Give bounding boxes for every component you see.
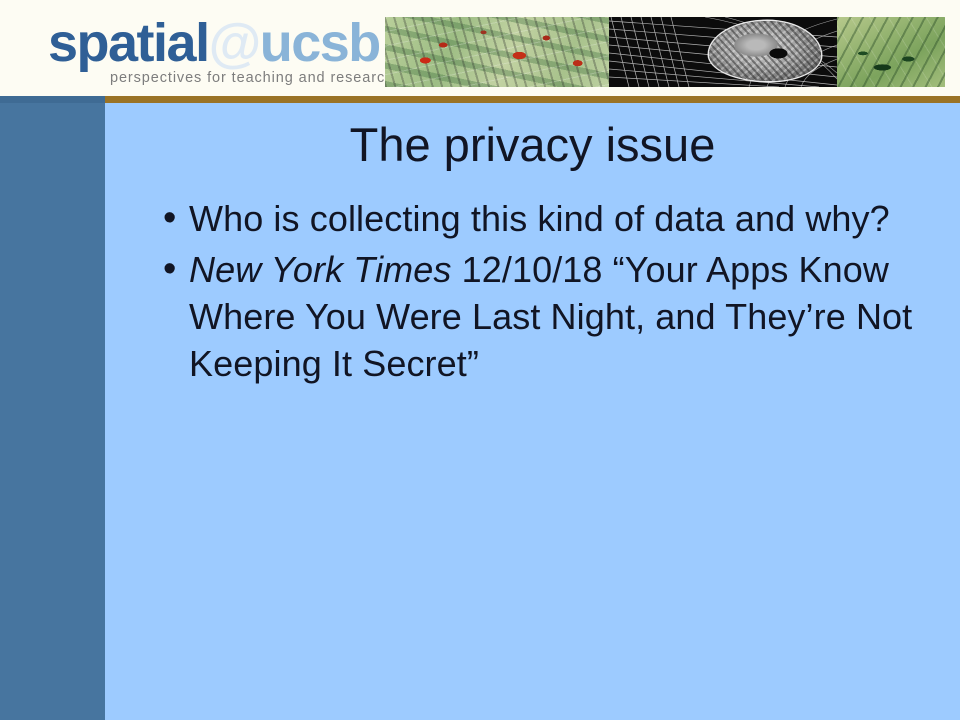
bullet-text: Who is collecting this kind of data and … [189, 195, 955, 242]
green-terrain-image [837, 17, 945, 87]
header-gold-divider [105, 96, 960, 103]
header-banner-images [385, 17, 945, 87]
slide-content: The privacy issue • Who is collecting th… [105, 103, 960, 720]
presentation-slide: spatial@ucsb perspectives for teaching a… [0, 0, 960, 720]
brain-mri-spiderweb-image [609, 17, 837, 87]
bullet-list: • Who is collecting this kind of data an… [155, 195, 955, 391]
bullet-segment-source: New York Times [189, 249, 452, 290]
logo-text-at: @ [209, 13, 260, 73]
logo-tagline: perspectives for teaching and research [110, 70, 394, 86]
brain-mri-graphic [709, 21, 821, 81]
logo-wordmark: spatial@ucsb [48, 16, 380, 70]
bullet-marker-icon: • [155, 195, 189, 242]
bullet-text: New York Times 12/10/18 “Your Apps Know … [189, 246, 955, 387]
left-sidebar-band [0, 103, 105, 720]
satellite-landcover-image [385, 17, 609, 87]
list-item: • New York Times 12/10/18 “Your Apps Kno… [155, 246, 955, 387]
logo-text-ucsb: ucsb [260, 13, 380, 73]
slide-header: spatial@ucsb perspectives for teaching a… [0, 0, 960, 96]
list-item: • Who is collecting this kind of data an… [155, 195, 955, 242]
page-title: The privacy issue [105, 117, 960, 173]
bullet-segment: Who is collecting this kind of data and … [189, 198, 890, 239]
spatial-ucsb-logo: spatial@ucsb perspectives for teaching a… [48, 16, 358, 84]
logo-text-spatial: spatial [48, 13, 209, 73]
bullet-marker-icon: • [155, 246, 189, 293]
sidebar-top-cap [0, 96, 105, 103]
